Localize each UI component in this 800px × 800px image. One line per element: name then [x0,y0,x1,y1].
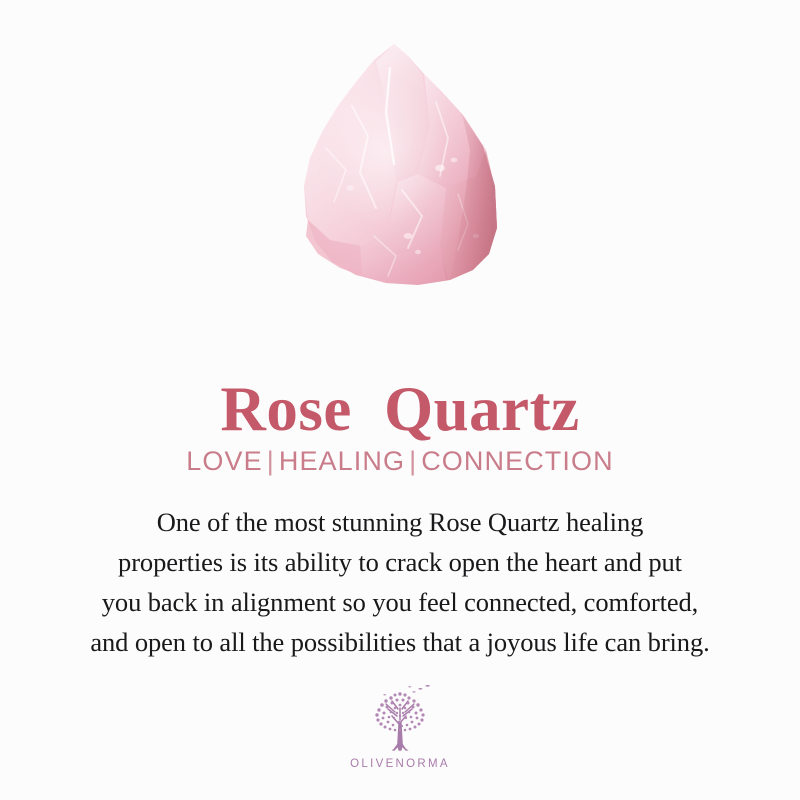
keyword-healing: HEALING [279,446,405,476]
keyword-tagline: LOVE|HEALING|CONNECTION [0,447,800,475]
brand-wordmark: OLIVENORMA [350,758,450,770]
description-line: One of the most stunning Rose Quartz hea… [18,502,782,542]
page-title: Rose Quartz [0,378,800,441]
keyword-separator-2: | [405,446,421,476]
keyword-connection: CONNECTION [421,446,614,476]
description-line: and open to all the possibilities that a… [18,622,782,662]
rose-quartz-info-card: Rose Quartz LOVE|HEALING|CONNECTION One … [0,0,800,800]
product-image-area [0,0,800,310]
keyword-separator-1: | [263,446,279,476]
description-text: One of the most stunning Rose Quartz hea… [18,502,782,662]
tree-of-life-icon [364,682,436,756]
keyword-love: LOVE [186,446,262,476]
description-line: properties is its ability to crack open … [18,542,782,582]
description-line: you back in alignment so you feel connec… [18,582,782,622]
brand-logo: OLIVENORMA [0,682,800,770]
rose-quartz-crystal-icon [290,40,510,290]
birds-icon [383,685,430,695]
